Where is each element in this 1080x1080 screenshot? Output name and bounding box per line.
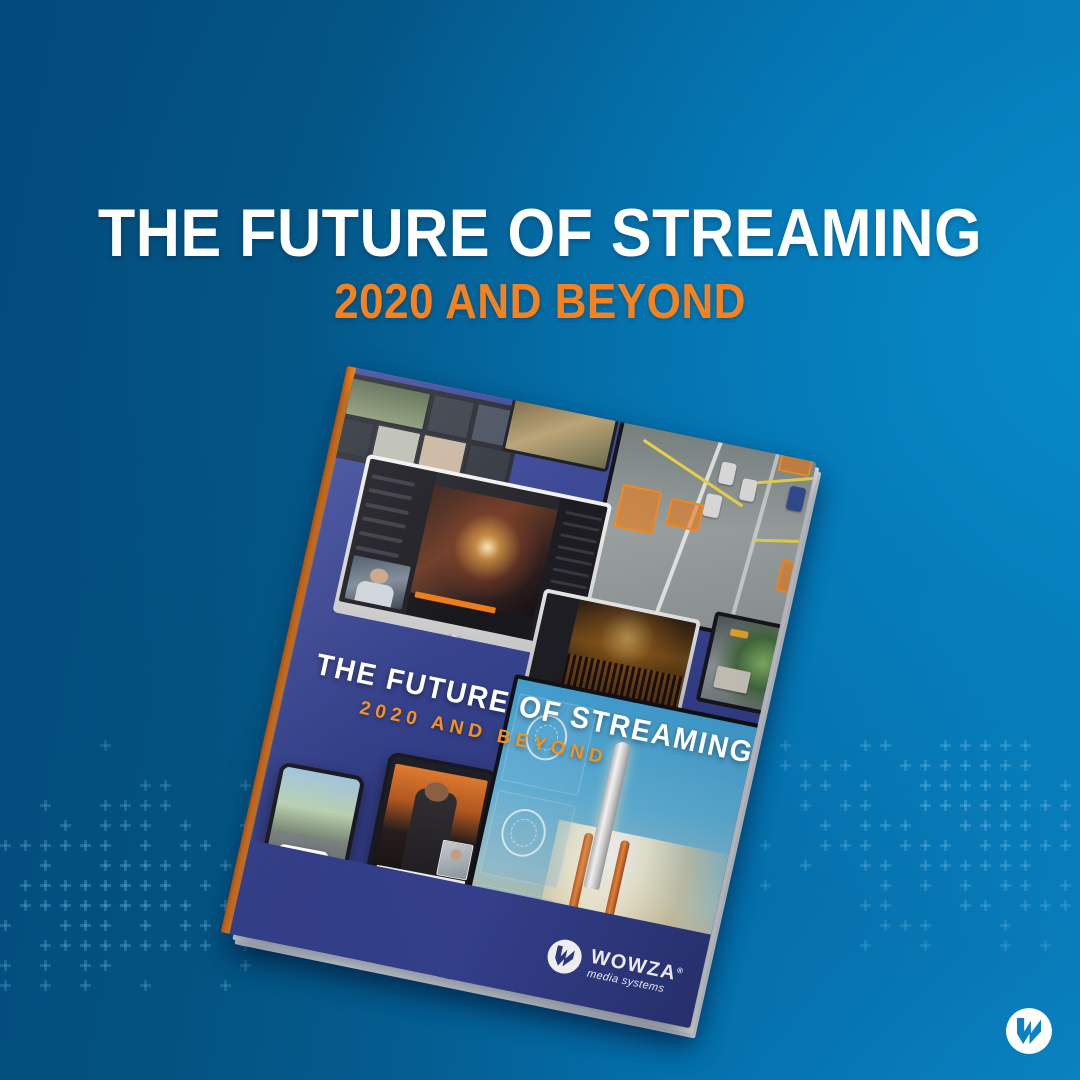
headline-block: THE FUTURE OF STREAMING 2020 AND BEYOND [0, 196, 1080, 330]
headline-secondary: 2020 AND BEYOND [54, 274, 1026, 330]
wowza-w-icon [544, 937, 585, 977]
monitor-base [372, 656, 521, 662]
wowza-corner-logo[interactable] [1006, 1008, 1052, 1054]
headline-primary: THE FUTURE OF STREAMING [54, 196, 1026, 270]
machinery-inspection-tablet [696, 611, 817, 728]
wowza-logo: WOWZA® media systems [544, 935, 687, 999]
ebook-mockup[interactable]: THE FUTURE OF STREAMING 2020 AND BEYOND [228, 378, 868, 1018]
book-cover: THE FUTURE OF STREAMING 2020 AND BEYOND [230, 368, 817, 1029]
wowza-circle-icon [1006, 1008, 1052, 1054]
wowza-w-glyph-icon [1017, 1018, 1041, 1044]
promo-canvas: THE FUTURE OF STREAMING 2020 AND BEYOND [0, 0, 1080, 1080]
aerial-nature-thumbnail [501, 396, 619, 472]
registered-mark-icon: ® [676, 966, 685, 976]
monitor-stand [440, 634, 460, 662]
